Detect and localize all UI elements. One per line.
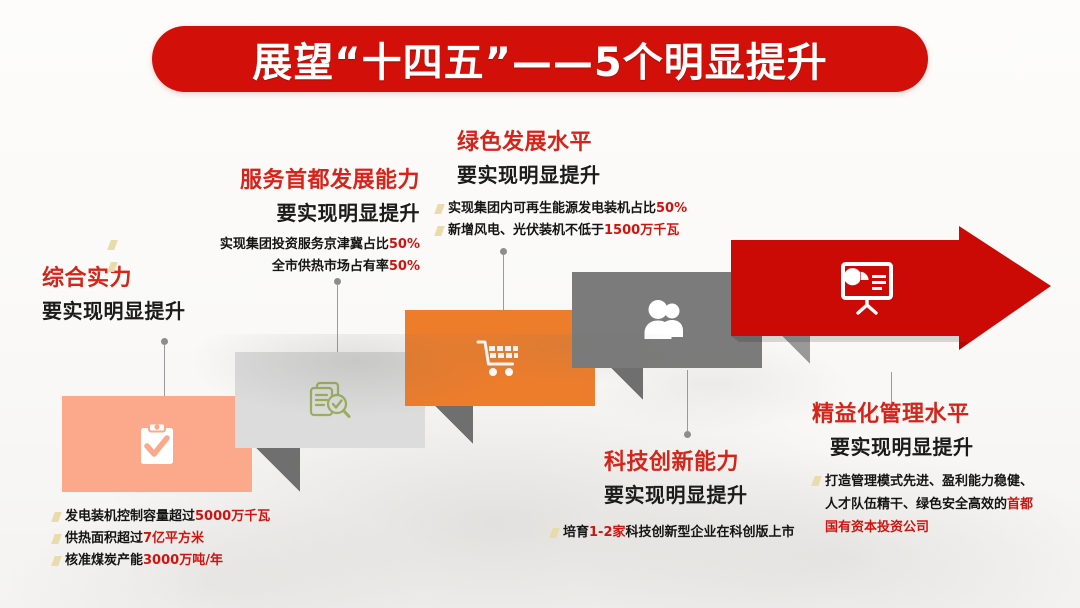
clipboard-check-icon [62,396,252,492]
connector-dot [684,431,691,438]
bullet-marker-icon [434,204,445,214]
bullet-marker-icon [51,512,62,522]
step-block-shadow [252,444,300,492]
bullet-item: 培育1-2家科技创新型企业在科创版上市 [548,522,848,544]
connector-line [503,254,504,316]
step-heading-black: 要实现明显提升 [120,197,420,226]
bullet-marker-icon [51,534,62,544]
slide-title-band: 展望“十四五”——5个明显提升 [152,26,928,92]
step-bullets-1: 发电装机控制容量超过5000万千瓦 供热面积超过7亿平方米 核准煤炭产能3000… [52,506,332,572]
step-heading-red: 服务首都发展能力 [120,162,420,194]
step-block-3[interactable] [405,310,595,406]
step-bullets-4: 培育1-2家科技创新型企业在科创版上市 [548,522,848,544]
step-label-2: 服务首都发展能力 要实现明显提升 实现集团投资服务京津冀占比50% 全市供热市场… [120,162,420,278]
connector-line [687,370,688,432]
document-search-check-icon [235,352,425,448]
step-bullets-5: 打造管理模式先进、盈利能力稳健、人才队伍精干、绿色安全高效的首都国有资本投资公司 [812,470,1062,539]
step-label-4: 科技创新能力 要实现明显提升 培育1-2家科技创新型企业在科创版上市 [548,444,848,544]
bullet-item: 新增风电、光伏装机不低于1500万千瓦 [435,220,735,242]
bullet-item: 打造管理模式先进、盈利能力稳健、人才队伍精干、绿色安全高效的首都国有资本投资公司 [812,470,1043,539]
bullet-item: 核准煤炭产能3000万吨/年 [52,550,332,572]
page-title: 展望“十四五”——5个明显提升 [152,26,928,92]
step-label-5: 精益化管理水平 要实现明显提升 打造管理模式先进、盈利能力稳健、人才队伍精干、绿… [812,396,1062,539]
step-bullets-3: 实现集团内可再生能源发电装机占比50% 新增风电、光伏装机不低于1500万千瓦 [435,198,735,242]
step-heading-black: 要实现明显提升 [830,431,1062,460]
connector-line [164,344,165,400]
step-label-3: 绿色发展水平 要实现明显提升 实现集团内可再生能源发电装机占比50% 新增风电、… [435,124,735,242]
step-heading-red: 绿色发展水平 [457,124,735,156]
shopping-cart-icon [405,310,595,406]
connector-line [337,284,338,358]
step-block-1[interactable] [62,396,252,492]
bullet-item: 实现集团投资服务京津冀占比50% [120,234,420,256]
bullet-marker-icon [549,528,560,538]
step-block-5[interactable] [731,226,1051,364]
bullet-marker-icon [107,240,118,250]
step-bullets-2: 实现集团投资服务京津冀占比50% 全市供热市场占有率50% [120,234,420,278]
bullet-marker-icon [811,476,822,486]
step-block-2[interactable] [235,352,425,448]
bullet-marker-icon [434,226,445,236]
step-heading-black: 要实现明显提升 [42,295,272,324]
slide-canvas: 展望“十四五”——5个明显提升 [0,0,1080,608]
step-heading-black: 要实现明显提升 [457,159,735,188]
step-heading-red: 精益化管理水平 [812,396,1062,428]
bullet-item: 发电装机控制容量超过5000万千瓦 [52,506,332,528]
bullet-item: 实现集团内可再生能源发电装机占比50% [435,198,735,220]
bullet-marker-icon [51,556,62,566]
bullet-item: 全市供热市场占有率50% [120,256,420,278]
bullet-item: 供热面积超过7亿平方米 [52,528,332,550]
